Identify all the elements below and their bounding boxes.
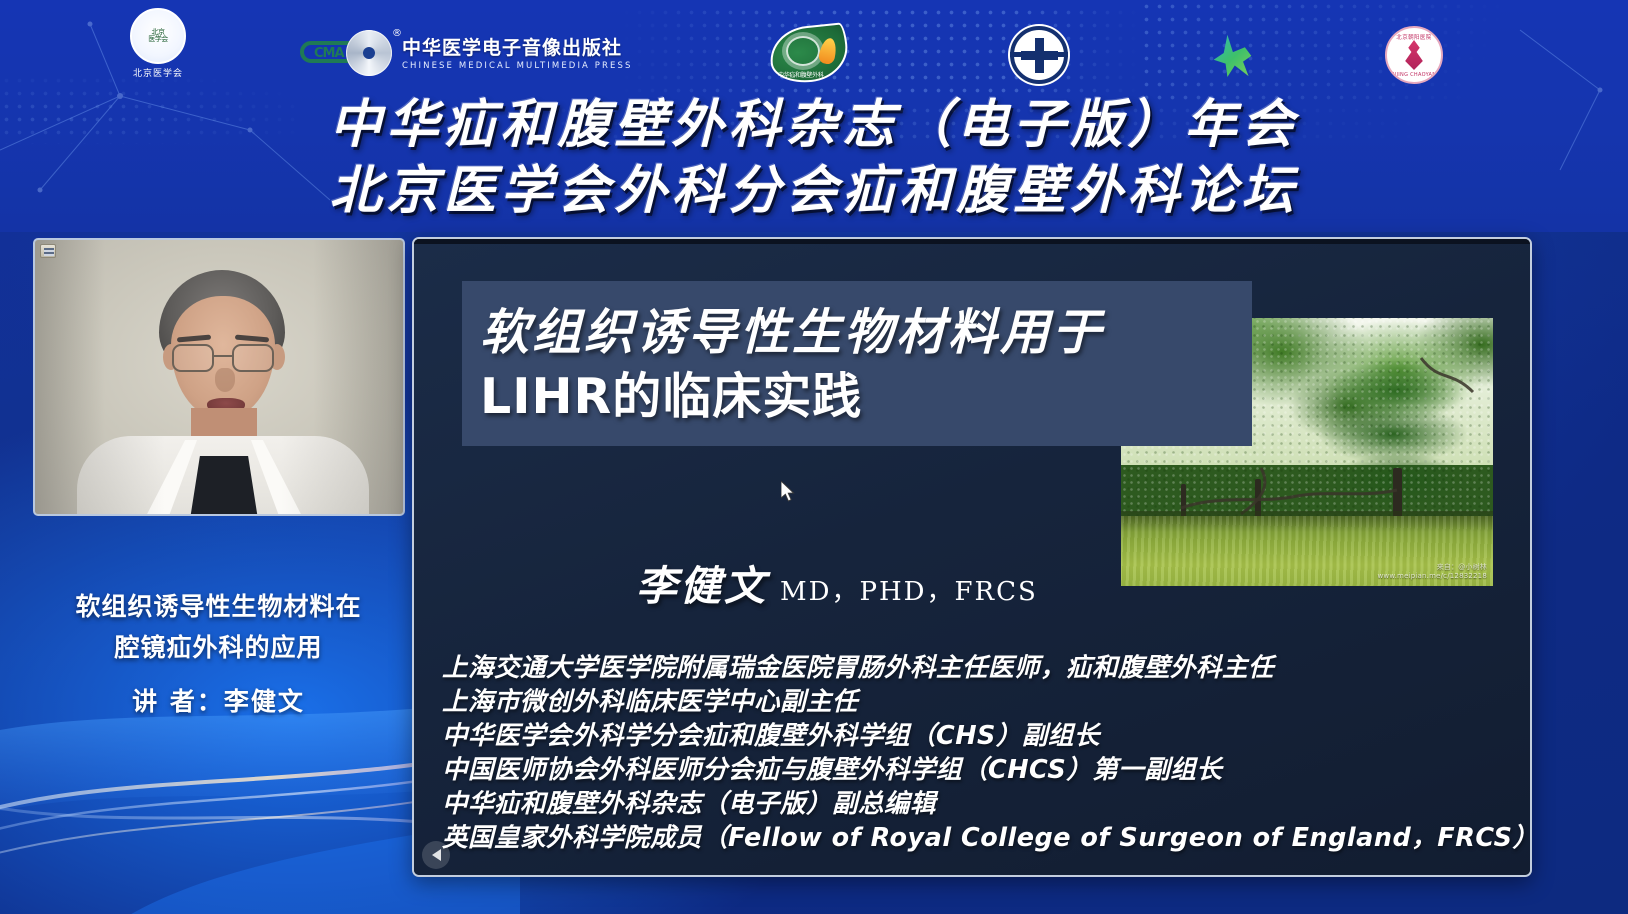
conference-title-line-2: 北京医学会外科分会疝和腹壁外科论坛 [0, 158, 1628, 224]
presentation-slide[interactable]: 来自：@小树林 www.meipian.me/c/12832218 软组织诱导性… [412, 237, 1532, 877]
cmmp-wordmark: 中华医学电子音像出版社 CHINESE MEDICAL MULTIMEDIA P… [402, 33, 632, 71]
cmmp-chinese-name: 中华医学电子音像出版社 [402, 33, 632, 60]
slide-biography-block: 上海交通大学医学院附属瑞金医院胃肠外科主任医师，疝和腹壁外科主任 上海市微创外科… [442, 651, 1522, 855]
cmmp-mark-text: CMA [314, 46, 344, 61]
slide-previous-button[interactable] [422, 841, 450, 869]
conference-title: 中华疝和腹壁外科杂志（电子版）年会 北京医学会外科分会疝和腹壁外科论坛 [0, 92, 1628, 224]
conference-title-line-1: 中华疝和腹壁外科杂志（电子版）年会 [0, 92, 1628, 158]
slide-speaker-credentials: MD，PHD，FRCS [780, 571, 1038, 608]
photo-watermark-line-2: www.meipian.me/c/12832218 [1378, 572, 1488, 581]
photo-watermark-line-1: 来自：@小树林 [1378, 563, 1488, 572]
logo-chinese-medical-multimedia-press: CMA ® 中华医学电子音像出版社 CHINESE MEDICAL MULTIM… [300, 30, 632, 74]
logo-caduceus-cross [1010, 26, 1068, 84]
conference-header-band: 北京医学会 北京医学会 CMA ® 中华医学电子音像出版社 CHINESE ME… [0, 0, 1628, 232]
bio-line: 中国医师协会外科医师分会疝与腹壁外科学组（CHCS）第一副组长 [442, 753, 1522, 787]
leaf-rings-shape [786, 36, 820, 66]
cross-band-shape [1010, 52, 1068, 57]
slide-title-plate: 软组织诱导性生物材料用于 LIHR的临床实践 [462, 281, 1252, 446]
glasses-bridge [214, 355, 232, 357]
seal-inner-mark: 北京医学会 [148, 29, 168, 44]
speaker-nose [215, 368, 235, 392]
seal-top-text: 北京朝阳医院 [1387, 33, 1441, 41]
bio-line: 中华医学会外科学分会疝和腹壁外科学组（CHS）副组长 [442, 719, 1522, 753]
bird-shape [1209, 30, 1255, 78]
webinar-stage: 北京医学会 北京医学会 CMA ® 中华医学电子音像出版社 CHINESE ME… [0, 0, 1628, 914]
logo-gradient-bird [1205, 26, 1259, 82]
caduceus-cross-icon [1010, 26, 1068, 84]
screen-share-icon [40, 244, 56, 258]
cmmp-english-name: CHINESE MEDICAL MULTIMEDIA PRESS [402, 61, 632, 71]
seal-bottom-text: BEIJING CHAOYANG [1387, 72, 1441, 78]
logo-hospital-seal: 北京朝阳医院 BEIJING CHAOYANG [1385, 26, 1443, 84]
slide-speaker-line: 李健文 MD，PHD，FRCS [636, 552, 1038, 612]
session-speaker-label: 讲 者：李健文 [16, 682, 421, 718]
cmmp-disc-icon: CMA ® [300, 30, 396, 74]
seal-flame-shape [1401, 40, 1427, 70]
bio-line: 上海交通大学医学院附属瑞金医院胃肠外科主任医师，疝和腹壁外科主任 [442, 651, 1522, 685]
beijing-medical-association-seal-icon: 北京医学会 [130, 8, 186, 64]
speaker-video-tile[interactable] [33, 238, 405, 516]
photo-watermark: 来自：@小树林 www.meipian.me/c/12832218 [1378, 563, 1488, 581]
coat-shading [77, 436, 369, 516]
gradient-bird-icon [1205, 26, 1259, 82]
slide-title-line-1: 软组织诱导性生物材料用于 [480, 301, 1252, 365]
bio-line: 中华疝和腹壁外科杂志（电子版）副总编辑 [442, 787, 1522, 821]
logo-green-leaf-society: 中华疝和腹壁外科 [770, 26, 848, 82]
session-caption-block: 软组织诱导性生物材料在 腔镜疝外科的应用 讲 者：李健文 [16, 586, 421, 718]
logo-beijing-medical-association: 北京医学会 北京医学会 [130, 8, 186, 79]
slide-speaker-name: 李健文 [636, 552, 768, 612]
chevron-left-icon [432, 849, 441, 861]
glasses-lens-right [232, 344, 274, 372]
bio-line: 英国皇家外科学院成员（Fellow of Royal College of Su… [442, 821, 1522, 855]
sponsor-logo-row: 北京医学会 北京医学会 CMA ® 中华医学电子音像出版社 CHINESE ME… [0, 8, 1628, 94]
leaf-caption: 中华疝和腹壁外科 [778, 70, 824, 79]
glasses-lens-left [172, 344, 214, 372]
bio-line: 上海市微创外科临床医学中心副主任 [442, 685, 1522, 719]
session-topic-line-2: 腔镜疝外科的应用 [16, 627, 421, 668]
cmmp-cd-disc-icon [346, 30, 392, 76]
logo-caption: 北京医学会 [130, 66, 186, 79]
session-topic-line-1: 软组织诱导性生物材料在 [16, 586, 421, 627]
slide-top-strip [414, 239, 1530, 244]
registered-trademark-symbol: ® [392, 28, 402, 39]
slide-title-line-2: LIHR的临床实践 [480, 365, 1252, 429]
green-leaf-emblem-icon: 中华疝和腹壁外科 [770, 26, 848, 82]
hospital-pink-seal-icon: 北京朝阳医院 BEIJING CHAOYANG [1385, 26, 1443, 84]
